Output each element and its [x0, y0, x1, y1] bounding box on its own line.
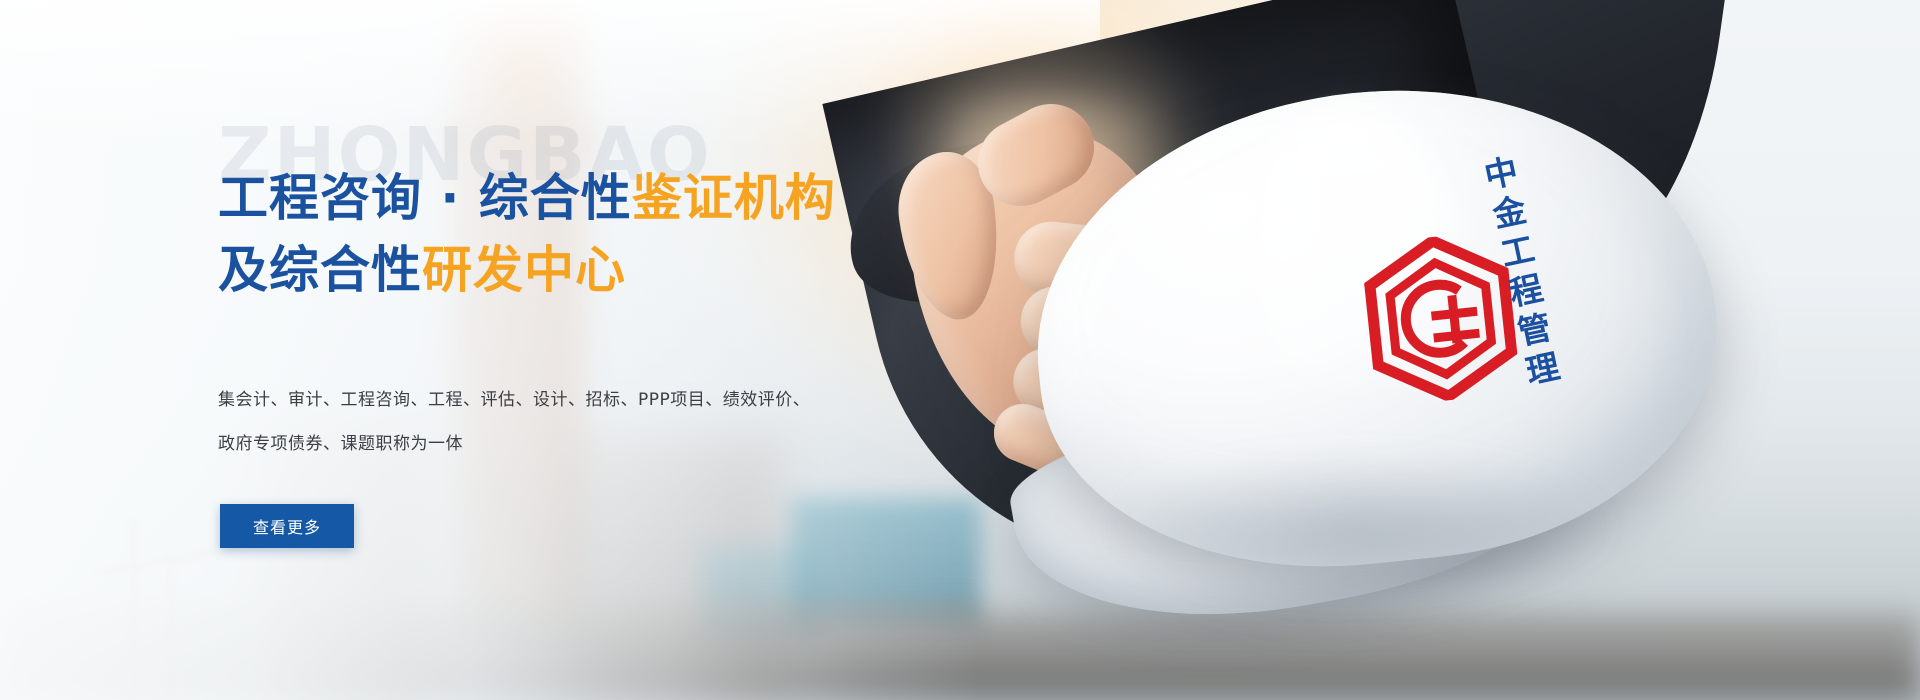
view-more-button[interactable]: 查看更多 — [220, 504, 354, 548]
hero-banner: 中金工程管理 ZHONGBAO 工程咨询 · 综合性鉴证机构 及综合性研发中心 … — [0, 0, 1920, 700]
hero-content: ZHONGBAO 工程咨询 · 综合性鉴证机构 及综合性研发中心 集会计、审计、… — [218, 0, 1078, 700]
headline-line-2: 及综合性研发中心 — [218, 234, 1038, 306]
description-line-1: 集会计、审计、工程咨询、工程、评估、设计、招标、PPP项目、绩效评价、 — [218, 378, 818, 422]
description: 集会计、审计、工程咨询、工程、评估、设计、招标、PPP项目、绩效评价、 政府专项… — [218, 378, 818, 466]
headline-line-2-blue: 及综合性 — [218, 241, 422, 299]
headline: 工程咨询 · 综合性鉴证机构 及综合性研发中心 — [218, 162, 1038, 306]
headline-line-1-orange: 鉴证机构 — [632, 169, 836, 227]
headline-line-1-blue: 工程咨询 · 综合性 — [218, 169, 632, 227]
headline-line-2-orange: 研发中心 — [422, 241, 626, 299]
helmet-logo: 中金工程管理 — [1293, 192, 1643, 524]
headline-line-1: 工程咨询 · 综合性鉴证机构 — [218, 162, 1038, 234]
description-line-2: 政府专项债券、课题职称为一体 — [218, 422, 818, 466]
